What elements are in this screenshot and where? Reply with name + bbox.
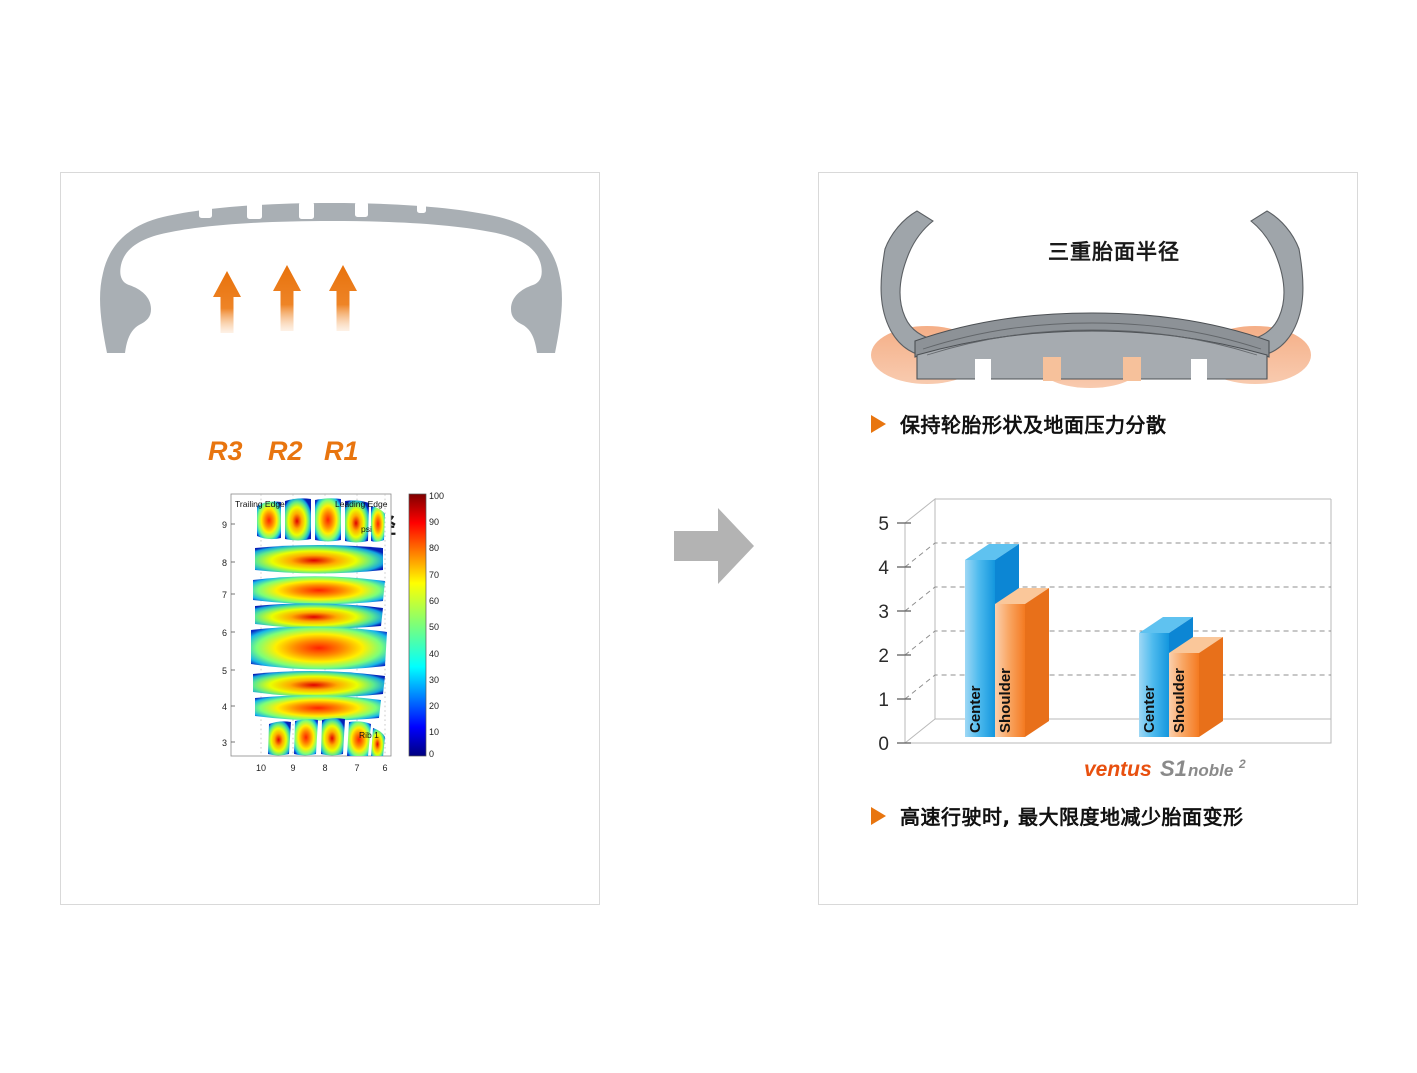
svg-text:90: 90 <box>429 517 439 527</box>
svg-text:Center: Center <box>1141 685 1158 733</box>
bar-group1-shoulder: Shoulder <box>995 588 1049 737</box>
triangle-bullet-icon <box>871 415 886 433</box>
svg-text:9: 9 <box>290 763 295 773</box>
tire-cross-section-deformed <box>857 191 1327 406</box>
radius-arrow-r1 <box>329 265 357 331</box>
triangle-bullet-icon <box>871 807 886 825</box>
svg-text:6: 6 <box>222 628 227 638</box>
svg-text:8: 8 <box>322 763 327 773</box>
svg-text:6: 6 <box>382 763 387 773</box>
heatmap-trailing-edge-label: Trailing Edge <box>235 499 285 509</box>
right-panel: 三重胎面半径 保持轮胎形状及地面压力分散 <box>818 172 1358 905</box>
svg-text:4: 4 <box>222 702 227 712</box>
bullet-row-1: 保持轮胎形状及地面压力分散 <box>871 409 1167 438</box>
left-panel: R3 R2 R1 三重胎面半径 <box>60 172 600 905</box>
logo-sub: noble <box>1188 761 1233 780</box>
tread-deformation-bar-chart: 0 1 2 3 4 5 Center Shoulder Cent <box>843 491 1335 781</box>
svg-text:8: 8 <box>222 558 227 568</box>
svg-text:100: 100 <box>429 491 444 501</box>
svg-text:3: 3 <box>878 602 889 623</box>
svg-text:40: 40 <box>429 649 439 659</box>
svg-text:0: 0 <box>878 734 889 755</box>
logo-model: S1 <box>1160 756 1187 781</box>
heatmap-leading-edge-label: Leading Edge <box>335 499 388 509</box>
bar-group2-shoulder: Shoulder <box>1169 637 1223 737</box>
radius-label-r3: R3 <box>208 436 243 467</box>
radius-arrow-r2 <box>273 265 301 331</box>
ventus-s1-noble-logo: ventus S1 noble 2 <box>1084 756 1314 782</box>
svg-text:5: 5 <box>878 514 889 535</box>
svg-text:2: 2 <box>878 646 889 667</box>
svg-text:Shoulder: Shoulder <box>1171 668 1188 733</box>
flow-arrow-icon <box>672 505 756 587</box>
svg-text:70: 70 <box>429 570 439 580</box>
svg-text:5: 5 <box>222 666 227 676</box>
svg-text:60: 60 <box>429 596 439 606</box>
radius-label-r2: R2 <box>268 436 303 467</box>
svg-text:3: 3 <box>222 738 227 748</box>
svg-text:20: 20 <box>429 701 439 711</box>
svg-text:0: 0 <box>429 749 434 759</box>
svg-text:1: 1 <box>878 690 889 711</box>
pressure-heatmap-chart: 9 8 7 6 5 4 3 10 9 8 7 6 <box>209 488 454 788</box>
bullet-row-2: 高速行驶时, 最大限度地减少胎面变形 <box>871 801 1244 830</box>
radius-label-r1: R1 <box>324 436 359 467</box>
svg-text:80: 80 <box>429 543 439 553</box>
svg-text:10: 10 <box>429 727 439 737</box>
heatmap-rib1-label: Rib 1 <box>359 730 379 740</box>
tire-cross-section-normal <box>67 193 595 393</box>
logo-superscript: 2 <box>1238 757 1246 771</box>
svg-text:30: 30 <box>429 675 439 685</box>
heatmap-psi-label: psi <box>361 524 372 534</box>
radius-arrow-r3 <box>213 271 241 333</box>
svg-text:9: 9 <box>222 520 227 530</box>
svg-text:7: 7 <box>354 763 359 773</box>
svg-text:Center: Center <box>967 685 984 733</box>
svg-text:7: 7 <box>222 590 227 600</box>
bullet-1-text: 保持轮胎形状及地面压力分散 <box>900 409 1167 438</box>
right-tire-caption: 三重胎面半径 <box>949 236 1279 266</box>
bullet-2-text: 高速行驶时, 最大限度地减少胎面变形 <box>900 801 1244 830</box>
svg-text:Shoulder: Shoulder <box>997 668 1014 733</box>
svg-text:50: 50 <box>429 622 439 632</box>
svg-text:10: 10 <box>256 763 266 773</box>
logo-brand: ventus <box>1084 758 1152 781</box>
svg-text:4: 4 <box>878 558 889 579</box>
